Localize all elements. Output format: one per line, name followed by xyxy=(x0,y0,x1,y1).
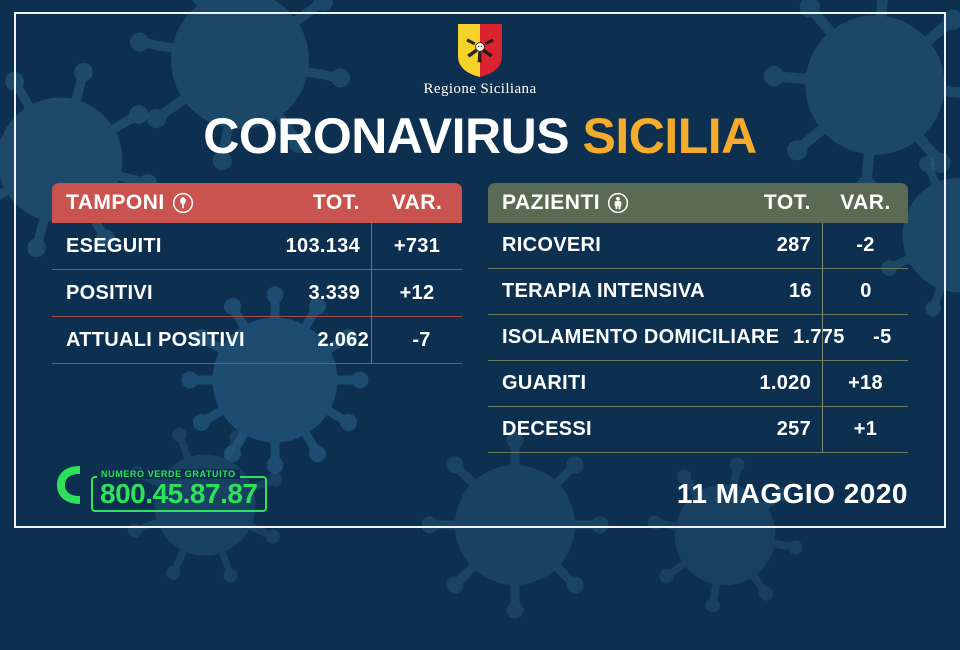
row-total: 1.020 xyxy=(703,372,823,395)
tamponi-column-divider xyxy=(371,223,372,364)
table-row: TERAPIA INTENSIVA 16 0 xyxy=(488,269,908,315)
stats-tables: TAMPONI TOT. VAR. ESEGUITI 103.134 +731 xyxy=(0,183,960,453)
row-label: RICOVERI xyxy=(488,234,703,257)
pazienti-column-divider xyxy=(822,223,823,453)
phone-handset-icon xyxy=(55,462,85,508)
tamponi-col-tot: TOT. xyxy=(222,191,372,215)
toll-free-number: NUMERO VERDE GRATUITO 800.45.87.87 xyxy=(55,458,267,512)
row-variation: -5 xyxy=(857,326,908,349)
pazienti-table-header: PAZIENTI TOT. VAR. xyxy=(488,183,908,223)
pazienti-col-var: VAR. xyxy=(823,191,908,215)
table-row: GUARITI 1.020 +18 xyxy=(488,361,908,407)
row-variation: +18 xyxy=(823,372,908,395)
row-label: GUARITI xyxy=(488,372,703,395)
row-variation: +12 xyxy=(372,282,462,305)
row-total: 3.339 xyxy=(222,282,372,305)
toll-free-number-value: 800.45.87.87 xyxy=(100,479,258,508)
region-name: Regione Siciliana xyxy=(0,81,960,98)
row-total: 287 xyxy=(703,234,823,257)
tamponi-col-var: VAR. xyxy=(372,191,462,215)
page-title: CORONAVIRUS SICILIA xyxy=(0,111,960,161)
row-total: 2.062 xyxy=(245,329,381,352)
title-primary: CORONAVIRUS xyxy=(203,108,569,164)
report-date: 11 MAGGIO 2020 xyxy=(677,478,908,510)
table-row: ISOLAMENTO DOMICILIARE 1.775 -5 xyxy=(488,315,908,361)
header: Regione Siciliana CORONAVIRUS SICILIA xyxy=(0,0,960,161)
person-icon xyxy=(607,192,629,214)
row-variation: -7 xyxy=(381,329,462,352)
row-total: 1.775 xyxy=(779,326,856,349)
pazienti-title-group: PAZIENTI xyxy=(488,191,629,215)
table-row: ATTUALI POSITIVI 2.062 -7 xyxy=(52,317,462,364)
toll-free-number-text: NUMERO VERDE GRATUITO 800.45.87.87 xyxy=(91,458,267,512)
table-row: RICOVERI 287 -2 xyxy=(488,223,908,269)
row-variation: +731 xyxy=(372,235,462,258)
pazienti-title: PAZIENTI xyxy=(502,191,600,215)
row-label: ESEGUITI xyxy=(52,235,222,258)
tamponi-table: TAMPONI TOT. VAR. ESEGUITI 103.134 +731 xyxy=(52,183,462,453)
trinacria-crest-icon xyxy=(456,22,504,78)
table-row: POSITIVI 3.339 +12 xyxy=(52,270,462,317)
pazienti-table: PAZIENTI TOT. VAR. RICOVERI xyxy=(488,183,908,453)
row-label: POSITIVI xyxy=(52,282,222,305)
pazienti-table-body: RICOVERI 287 -2 TERAPIA INTENSIVA 16 0 I… xyxy=(488,223,908,453)
row-variation: +1 xyxy=(823,418,908,441)
title-accent: SICILIA xyxy=(582,108,756,164)
row-label: ISOLAMENTO DOMICILIARE xyxy=(488,326,779,349)
row-label: DECESSI xyxy=(488,418,703,441)
row-total: 103.134 xyxy=(222,235,372,258)
tamponi-table-body: ESEGUITI 103.134 +731 POSITIVI 3.339 +12… xyxy=(52,223,462,364)
row-label: ATTUALI POSITIVI xyxy=(52,329,245,352)
toll-free-label: NUMERO VERDE GRATUITO xyxy=(97,469,240,479)
table-row: ESEGUITI 103.134 +731 xyxy=(52,223,462,270)
row-variation: -2 xyxy=(823,234,908,257)
row-variation: 0 xyxy=(824,280,908,303)
pazienti-col-tot: TOT. xyxy=(703,191,823,215)
row-total: 257 xyxy=(703,418,823,441)
tamponi-title-group: TAMPONI xyxy=(52,191,194,215)
row-total: 16 xyxy=(705,280,824,303)
swab-icon xyxy=(172,192,194,214)
tamponi-title: TAMPONI xyxy=(66,191,165,215)
toll-free-number-box: 800.45.87.87 xyxy=(91,476,267,512)
table-row: DECESSI 257 +1 xyxy=(488,407,908,453)
tamponi-table-header: TAMPONI TOT. VAR. xyxy=(52,183,462,223)
row-label: TERAPIA INTENSIVA xyxy=(488,280,705,303)
